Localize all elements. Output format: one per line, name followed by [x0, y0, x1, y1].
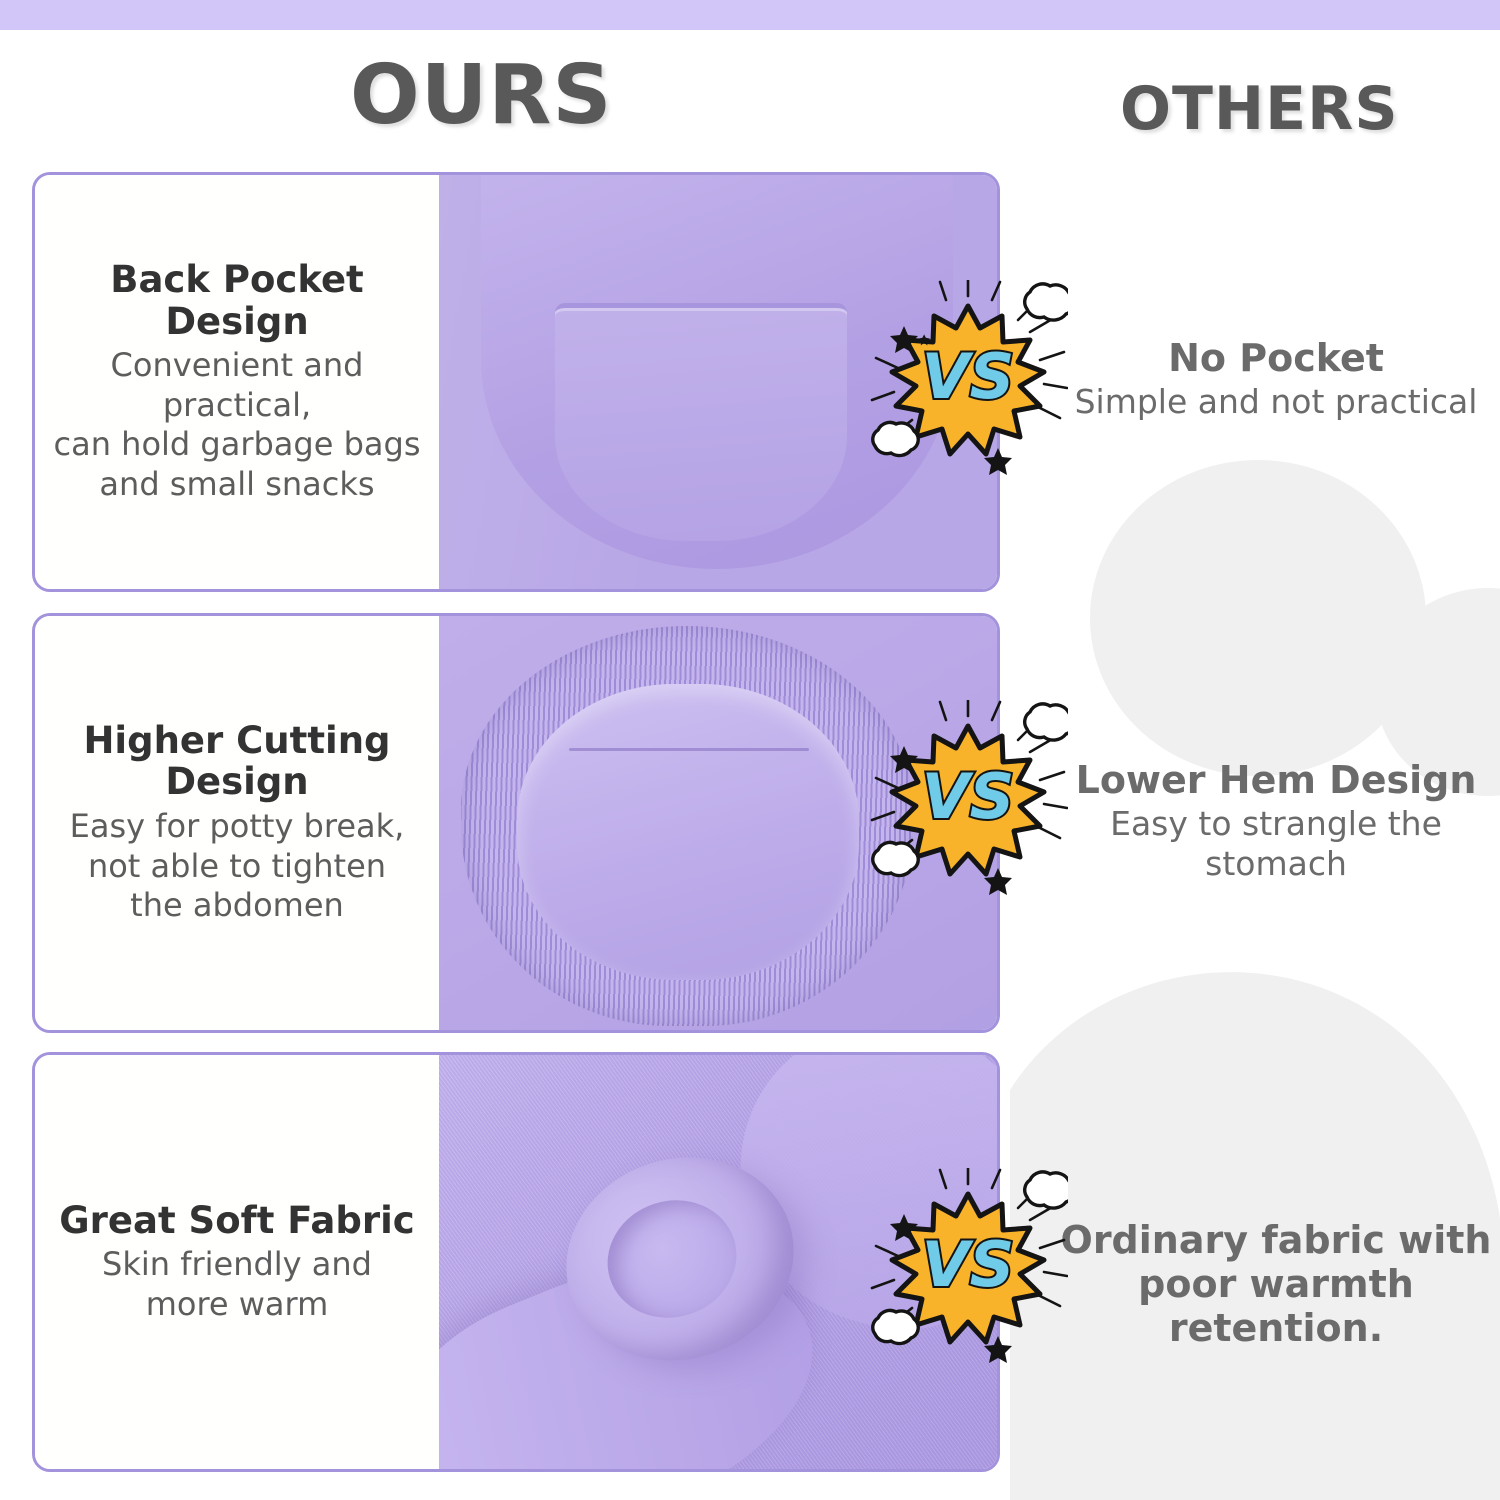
others-title-3: Ordinary fabric with — [1060, 1218, 1492, 1262]
others-desc-2: Easy to strangle thestomach — [1060, 804, 1492, 883]
ours-title-1: Back Pocket Design — [47, 259, 427, 342]
top-accent-bar — [0, 0, 1500, 30]
others-title-2: Lower Hem Design — [1060, 758, 1492, 802]
ours-text-block-3: Great Soft Fabric Skin friendly andmore … — [35, 1055, 439, 1469]
ours-photo-2 — [439, 616, 997, 1030]
others-desc-1: Simple and not practical — [1060, 382, 1492, 422]
ours-photo-3 — [439, 1055, 997, 1469]
ours-desc-2: Easy for potty break,not able to tighten… — [70, 807, 405, 926]
ours-desc-3: Skin friendly andmore warm — [102, 1245, 372, 1324]
ours-text-block-1: Back Pocket Design Convenient and practi… — [35, 175, 439, 589]
header-others: OTHERS — [1120, 74, 1399, 144]
others-text-block-3: Ordinary fabric with poor warmthretentio… — [1060, 1218, 1492, 1350]
ours-title-3: Great Soft Fabric — [59, 1200, 414, 1241]
ours-desc-1: Convenient and practical,can hold garbag… — [47, 346, 427, 505]
ours-photo-1 — [439, 175, 997, 589]
ours-text-block-2: Higher CuttingDesign Easy for potty brea… — [35, 616, 439, 1030]
hem-seam-line — [569, 748, 809, 751]
comparison-card-row-2: Higher CuttingDesign Easy for potty brea… — [32, 613, 1000, 1033]
comparison-card-row-3: Great Soft Fabric Skin friendly andmore … — [32, 1052, 1000, 1472]
comparison-headers: OURS OTHERS — [0, 46, 1500, 156]
others-text-block-2: Lower Hem Design Easy to strangle thesto… — [1060, 758, 1492, 883]
ours-title-2: Higher CuttingDesign — [83, 720, 390, 803]
comparison-card-row-1: Back Pocket Design Convenient and practi… — [32, 172, 1000, 592]
back-pocket-shape — [555, 303, 847, 541]
hem-opening-shape — [517, 684, 859, 980]
others-text-block-1: No Pocket Simple and not practical — [1060, 336, 1492, 422]
header-ours: OURS — [350, 48, 613, 144]
others-desc-3: poor warmthretention. — [1060, 1262, 1492, 1350]
others-title-1: No Pocket — [1060, 336, 1492, 380]
